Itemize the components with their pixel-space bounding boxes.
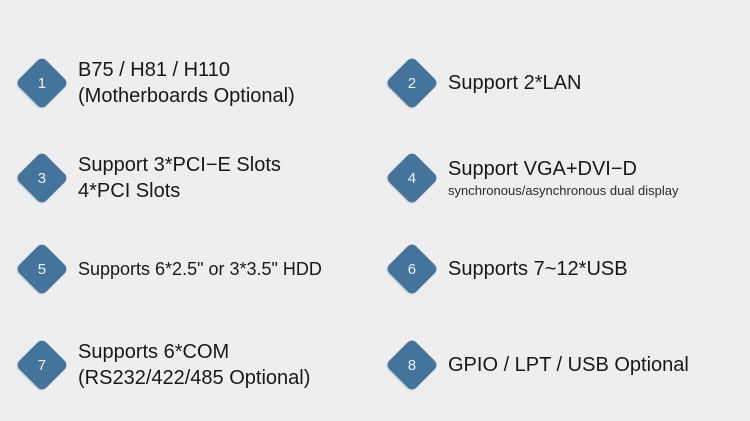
badge-1: 1 <box>10 46 74 120</box>
badge-number: 6 <box>408 262 417 277</box>
feature-item-1: 1 B75 / H81 / H110 (Motherboards Optiona… <box>10 46 375 120</box>
feature-line-secondary: (RS232/422/485 Optional) <box>78 365 375 391</box>
feature-subline: synchronous/asynchronous dual display <box>448 182 745 200</box>
feature-item-8: 8 GPIO / LPT / USB Optional <box>380 328 745 402</box>
badge-7: 7 <box>10 328 74 402</box>
feature-item-6: 6 Supports 7~12*USB <box>380 232 745 306</box>
badge-number: 8 <box>408 358 417 373</box>
feature-item-7: 7 Supports 6*COM (RS232/422/485 Optional… <box>10 328 375 402</box>
badge-3: 3 <box>10 141 74 215</box>
feature-line-primary: Supports 6*COM <box>78 339 375 365</box>
feature-line-secondary: 4*PCI Slots <box>78 178 375 204</box>
feature-text-6: Supports 7~12*USB <box>444 256 745 282</box>
badge-number: 5 <box>38 262 47 277</box>
feature-text-7: Supports 6*COM (RS232/422/485 Optional) <box>74 339 375 391</box>
feature-text-1: B75 / H81 / H110 (Motherboards Optional) <box>74 57 375 109</box>
feature-line-primary: Support VGA+DVI−D <box>448 156 745 182</box>
feature-text-5: Supports 6*2.5" or 3*3.5" HDD <box>74 257 375 281</box>
badge-8: 8 <box>380 328 444 402</box>
feature-text-3: Support 3*PCI−E Slots 4*PCI Slots <box>74 152 375 204</box>
feature-item-4: 4 Support VGA+DVI−D synchronous/asynchro… <box>380 141 745 215</box>
feature-line-primary: Supports 7~12*USB <box>448 256 745 282</box>
feature-line-secondary: (Motherboards Optional) <box>78 83 375 109</box>
feature-item-2: 2 Support 2*LAN <box>380 46 745 120</box>
badge-number: 1 <box>38 76 47 91</box>
feature-line-primary: GPIO / LPT / USB Optional <box>448 352 745 378</box>
badge-5: 5 <box>10 232 74 306</box>
badge-6: 6 <box>380 232 444 306</box>
feature-line-primary: B75 / H81 / H110 <box>78 57 375 83</box>
badge-number: 7 <box>38 358 47 373</box>
feature-line-primary: Support 3*PCI−E Slots <box>78 152 375 178</box>
feature-grid: 1 B75 / H81 / H110 (Motherboards Optiona… <box>0 0 750 421</box>
feature-text-2: Support 2*LAN <box>444 70 745 96</box>
badge-2: 2 <box>380 46 444 120</box>
badge-number: 4 <box>408 171 417 186</box>
badge-4: 4 <box>380 141 444 215</box>
feature-line-primary: Supports 6*2.5" or 3*3.5" HDD <box>78 257 375 281</box>
feature-text-8: GPIO / LPT / USB Optional <box>444 352 745 378</box>
feature-item-5: 5 Supports 6*2.5" or 3*3.5" HDD <box>10 232 375 306</box>
feature-line-primary: Support 2*LAN <box>448 70 745 96</box>
feature-text-4: Support VGA+DVI−D synchronous/asynchrono… <box>444 156 745 200</box>
badge-number: 2 <box>408 76 417 91</box>
feature-item-3: 3 Support 3*PCI−E Slots 4*PCI Slots <box>10 141 375 215</box>
badge-number: 3 <box>38 171 47 186</box>
